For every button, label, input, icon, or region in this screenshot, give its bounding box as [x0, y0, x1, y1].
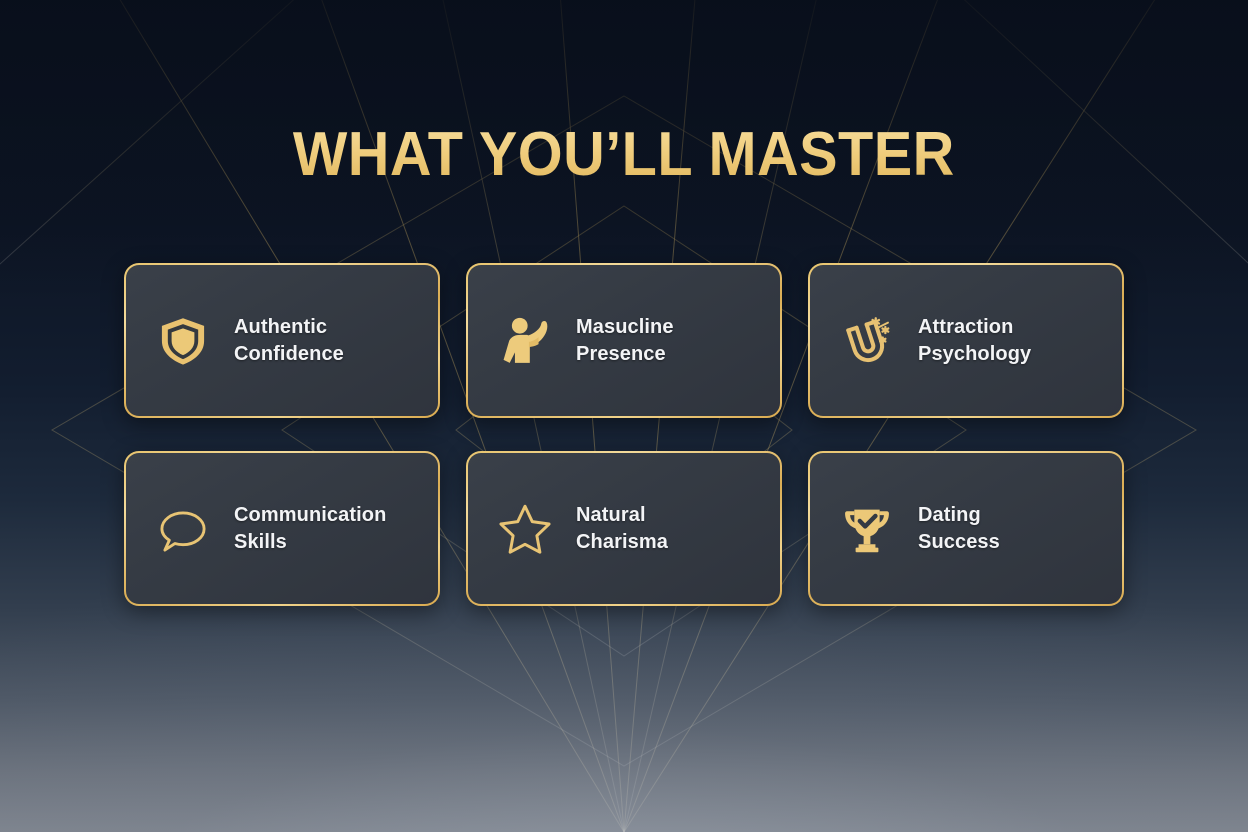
- feature-card-grid: Authentic Confidence Masucline Presence: [124, 263, 1124, 606]
- feature-card-masucline-presence[interactable]: Masucline Presence: [466, 263, 782, 418]
- speech-bubble-icon: [154, 500, 212, 558]
- feature-card-label: Dating Success: [918, 502, 1000, 555]
- trophy-icon: [838, 500, 896, 558]
- feature-card-authentic-confidence[interactable]: Authentic Confidence: [124, 263, 440, 418]
- magnet-icon: [838, 312, 896, 370]
- feature-card-label: Natural Charisma: [576, 502, 668, 555]
- page-title-text: WHAT YOU’LL MASTER: [293, 124, 955, 186]
- feature-card-label: Masucline Presence: [576, 314, 674, 367]
- feature-card-label: Communication Skills: [234, 502, 386, 555]
- feature-card-natural-charisma[interactable]: Natural Charisma: [466, 451, 782, 606]
- page-title: WHAT YOU’LL MASTER: [0, 124, 1248, 186]
- flex-muscle-icon: [496, 312, 554, 370]
- feature-card-attraction-psychology[interactable]: Attraction Psychology: [808, 263, 1124, 418]
- slide-canvas: WHAT YOU’LL MASTER Authentic Confidence: [0, 0, 1248, 832]
- feature-card-label: Attraction Psychology: [918, 314, 1031, 367]
- feature-card-communication-skills[interactable]: Communication Skills: [124, 451, 440, 606]
- shield-icon: [154, 312, 212, 370]
- star-icon: [496, 500, 554, 558]
- feature-card-label: Authentic Confidence: [234, 314, 344, 367]
- feature-card-dating-success[interactable]: Dating Success: [808, 451, 1124, 606]
